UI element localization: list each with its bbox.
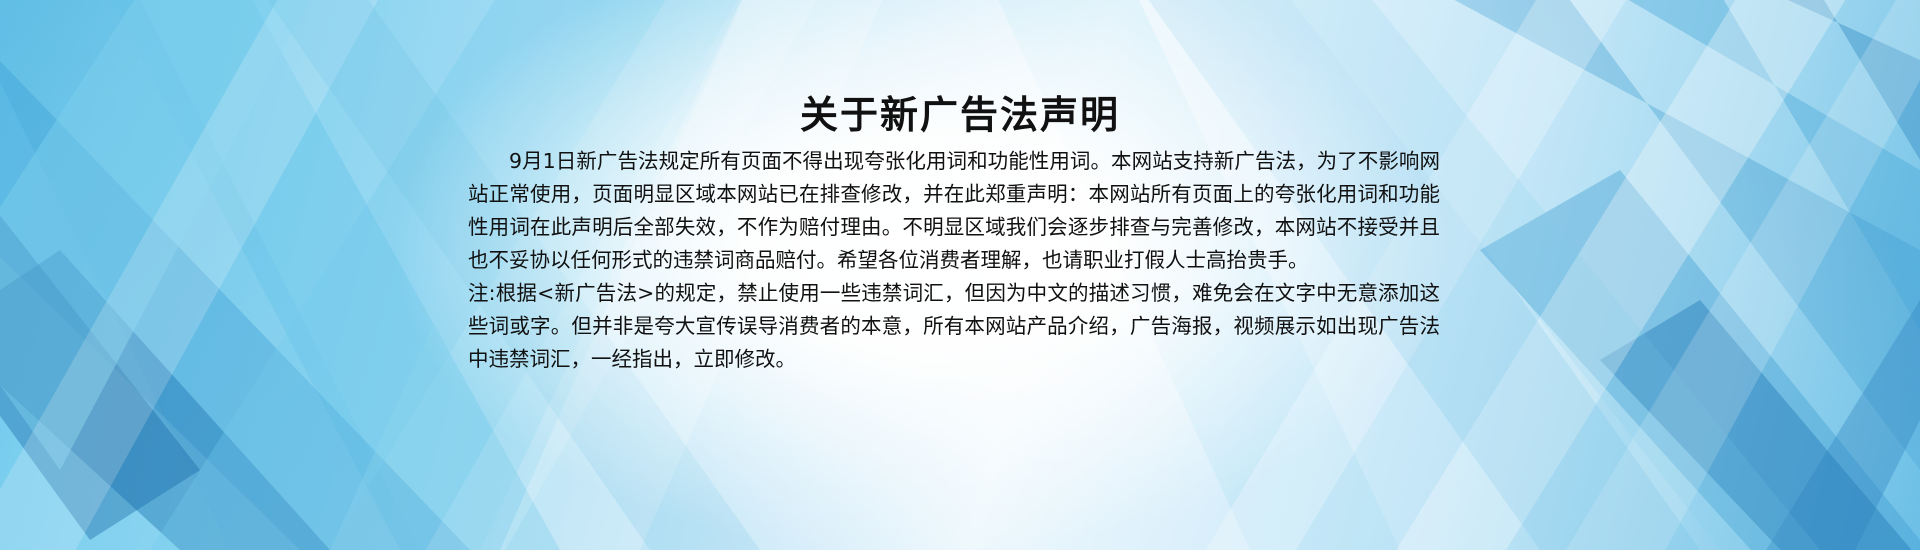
page-title: 关于新广告法声明 xyxy=(0,84,1920,139)
statement-body: 9月1日新广告法规定所有页面不得出现夸张化用词和功能性用词。本网站支持新广告法，… xyxy=(468,145,1440,376)
statement-paragraph-1: 9月1日新广告法规定所有页面不得出现夸张化用词和功能性用词。本网站支持新广告法，… xyxy=(468,145,1440,277)
advertising-law-statement-banner: 关于新广告法声明 9月1日新广告法规定所有页面不得出现夸张化用词和功能性用词。本… xyxy=(0,0,1920,550)
statement-content: 关于新广告法声明 9月1日新广告法规定所有页面不得出现夸张化用词和功能性用词。本… xyxy=(0,0,1920,550)
statement-paragraph-2: 注:根据<新广告法>的规定，禁止使用一些违禁词汇，但因为中文的描述习惯，难免会在… xyxy=(468,277,1440,376)
